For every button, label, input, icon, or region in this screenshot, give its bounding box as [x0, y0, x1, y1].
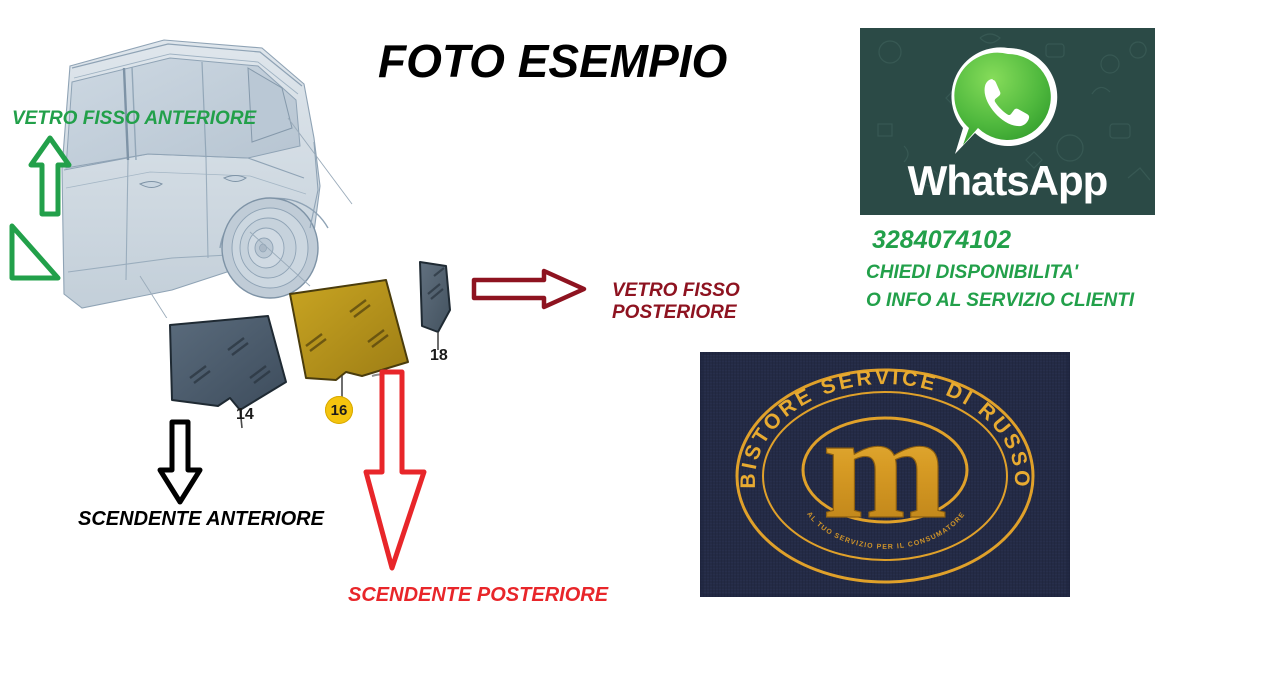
shop-logo-image: MRICAMBISTORE SERVICE DI RUSSO MARCO AL … [700, 352, 1070, 597]
phone-number[interactable]: 3284074102 [872, 226, 1011, 255]
triangle-marker-icon [6, 222, 62, 289]
logo-monogram: m [823, 384, 948, 550]
label-scendente-anteriore: SCENDENTE ANTERIORE [78, 508, 324, 531]
arrow-up-icon [28, 134, 72, 223]
glass-part-14 [170, 316, 286, 428]
whatsapp-banner[interactable]: WhatsApp [860, 28, 1155, 215]
label-scendente-posteriore: SCENDENTE POSTERIORE [348, 584, 608, 607]
arrow-down-long-icon [360, 368, 430, 577]
contact-service-line: O INFO AL SERVIZIO CLIENTI [866, 290, 1134, 312]
whatsapp-wordmark: WhatsApp [860, 157, 1155, 205]
contact-availability-line: CHIEDI DISPONIBILITA' [866, 262, 1078, 284]
label-vetro-fisso-anteriore: VETRO FISSO ANTERIORE [12, 108, 256, 130]
whatsapp-icon [947, 44, 1069, 160]
arrow-down-icon [156, 418, 204, 511]
label-vetro-fisso-posteriore: VETRO FISSO POSTERIORE [612, 280, 740, 324]
arrow-right-icon [470, 268, 588, 315]
part-number-16-badge: 16 [325, 396, 353, 424]
page-title: FOTO ESEMPIO [378, 34, 798, 88]
part-number-14: 14 [236, 406, 254, 424]
glass-part-18 [420, 262, 450, 350]
part-number-18: 18 [430, 347, 448, 365]
